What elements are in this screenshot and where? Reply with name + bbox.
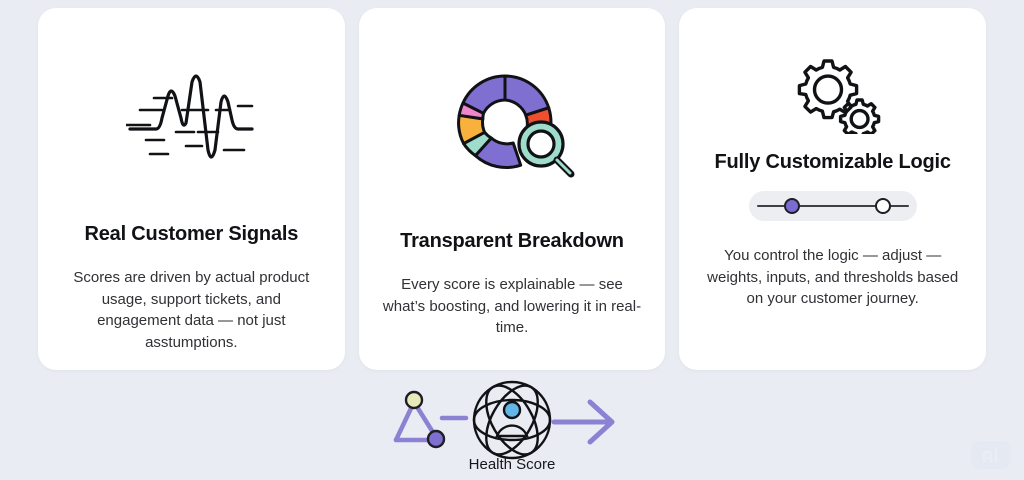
- card-title: Transparent Breakdown: [400, 229, 624, 254]
- waveform-icon: [126, 68, 256, 178]
- atom-person-icon: [474, 378, 550, 463]
- health-score-label: Health Score: [382, 456, 642, 473]
- card-body: You control the logic — adjust — weights…: [699, 245, 966, 310]
- donut-chart-magnifier-icon: [447, 64, 577, 184]
- health-score-diagram: Health Score: [0, 378, 1024, 480]
- triangle-nodes-icon: [396, 392, 466, 447]
- card-title: Fully Customizable Logic: [715, 150, 951, 175]
- slider-knob-hollow[interactable]: [875, 198, 891, 214]
- card-title: Real Customer Signals: [85, 222, 299, 247]
- slide-stage: Real Customer Signals Scores are driven …: [0, 0, 1024, 480]
- feature-card-transparent-breakdown[interactable]: Transparent Breakdown Every score is exp…: [359, 8, 666, 370]
- feature-cards-row: Real Customer Signals Scores are driven …: [38, 8, 986, 370]
- card-body: Scores are driven by actual product usag…: [58, 267, 325, 354]
- card-body: Every score is explainable — see what’s …: [379, 274, 646, 339]
- arrow-right-icon: [554, 402, 612, 442]
- ai-watermark-icon: [970, 440, 1012, 470]
- feature-card-fully-customizable-logic[interactable]: Fully Customizable Logic You control the…: [679, 8, 986, 370]
- gears-icon: [783, 56, 883, 134]
- slider-knob-filled[interactable]: [784, 198, 800, 214]
- logic-weight-slider[interactable]: [749, 191, 917, 221]
- person-head-dot: [504, 402, 520, 418]
- feature-card-real-customer-signals[interactable]: Real Customer Signals Scores are driven …: [38, 8, 345, 370]
